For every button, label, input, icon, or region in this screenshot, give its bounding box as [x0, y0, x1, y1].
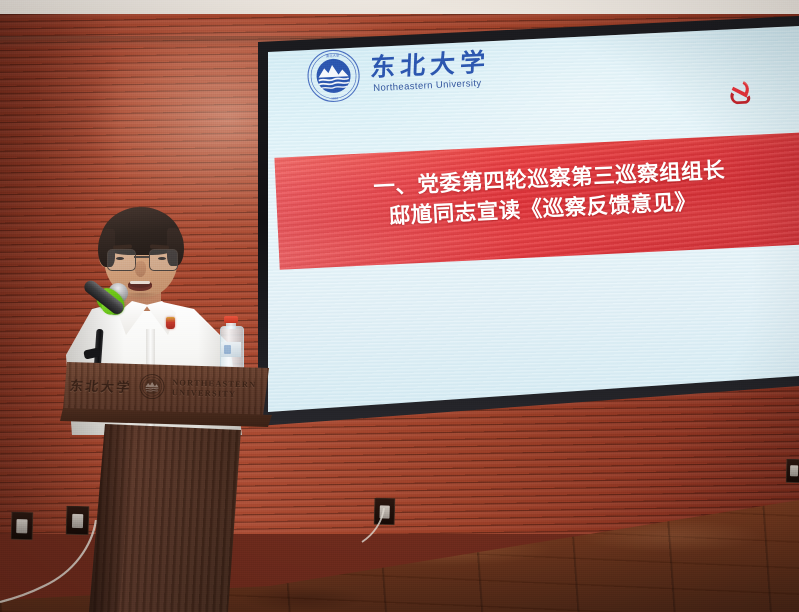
outlet-face-icon — [71, 513, 83, 527]
outlet-face-icon — [790, 465, 798, 477]
outlet-face-icon — [379, 505, 390, 518]
lens-right — [149, 249, 178, 271]
nose — [135, 261, 146, 277]
podium-english-line-2: UNIVERSITY — [172, 387, 237, 399]
glasses-bridge — [134, 256, 149, 258]
podium-name-chinese: 东北大学 — [69, 375, 134, 396]
podium-branding: 东北大学 NORTHEASTERN UNIVERSITY — [70, 369, 267, 404]
conference-room-photo: 東北大學 1923 东北大学 Northeastern University 一… — [0, 0, 799, 612]
projection-screen-surface[interactable] — [268, 26, 799, 412]
party-member-pin-icon — [166, 317, 175, 329]
water-bottle — [220, 316, 242, 368]
bottle-label-graphic — [224, 345, 231, 354]
wall-outlet-left-2 — [66, 506, 90, 536]
bottle-label — [221, 342, 241, 357]
lens-left — [107, 249, 136, 271]
wall-outlet-left-1 — [11, 512, 34, 541]
podium-seal-icon — [139, 373, 166, 400]
outlet-face-icon — [16, 519, 28, 533]
wall-outlet-right — [786, 459, 799, 483]
screen-glare — [268, 26, 799, 412]
podium-name-english: NORTHEASTERN UNIVERSITY — [172, 377, 257, 399]
bottle-cap-icon — [224, 316, 238, 323]
wall-outlet-center — [374, 498, 396, 526]
